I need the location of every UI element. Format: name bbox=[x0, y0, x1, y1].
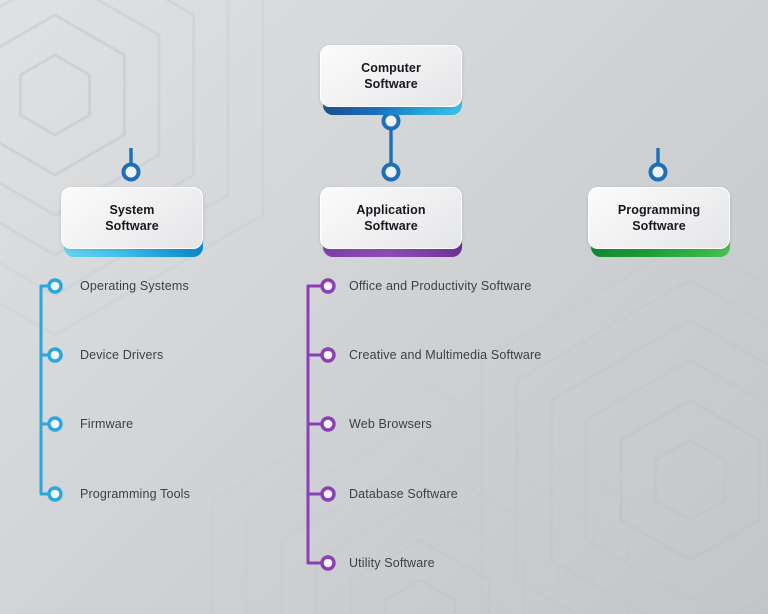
node-card: ProgrammingSoftware bbox=[588, 187, 730, 249]
node-label: ApplicationSoftware bbox=[356, 202, 425, 234]
node-system-software[interactable]: SystemSoftware bbox=[61, 187, 203, 249]
leaf-label-web-browsers[interactable]: Web Browsers bbox=[349, 417, 432, 431]
node-label-line1: Programming bbox=[618, 203, 700, 217]
system-software-leaf-dots bbox=[49, 280, 61, 500]
leaf-label-utility-software[interactable]: Utility Software bbox=[349, 556, 435, 570]
leaf-label-office-and-productivity-software[interactable]: Office and Productivity Software bbox=[349, 279, 531, 293]
node-label: ComputerSoftware bbox=[361, 60, 421, 92]
leaf-label-database-software[interactable]: Database Software bbox=[349, 487, 458, 501]
application-software-leaf-spine bbox=[308, 286, 328, 563]
system-software-leaf-spine bbox=[41, 286, 55, 494]
leaf-label-programming-tools[interactable]: Programming Tools bbox=[80, 487, 190, 501]
leaf-label-creative-and-multimedia-software[interactable]: Creative and Multimedia Software bbox=[349, 348, 541, 362]
node-computer-software[interactable]: ComputerSoftware bbox=[320, 45, 462, 107]
trunk-joint-circles bbox=[124, 114, 666, 180]
leaf-label-firmware[interactable]: Firmware bbox=[80, 417, 133, 431]
node-label-line1: Application bbox=[356, 203, 425, 217]
node-label-line2: Software bbox=[105, 219, 159, 233]
node-label-line2: Software bbox=[364, 77, 418, 91]
node-label: ProgrammingSoftware bbox=[618, 202, 700, 234]
node-application-software[interactable]: ApplicationSoftware bbox=[320, 187, 462, 249]
node-programming-software[interactable]: ProgrammingSoftware bbox=[588, 187, 730, 249]
node-card: ApplicationSoftware bbox=[320, 187, 462, 249]
node-card: SystemSoftware bbox=[61, 187, 203, 249]
node-label-line1: System bbox=[109, 203, 154, 217]
application-software-leaf-dots bbox=[322, 280, 334, 569]
node-label-line2: Software bbox=[632, 219, 686, 233]
node-label: SystemSoftware bbox=[105, 202, 159, 234]
node-card: ComputerSoftware bbox=[320, 45, 462, 107]
leaf-label-operating-systems[interactable]: Operating Systems bbox=[80, 279, 189, 293]
node-label-line1: Computer bbox=[361, 61, 421, 75]
leaf-label-device-drivers[interactable]: Device Drivers bbox=[80, 348, 163, 362]
node-label-line2: Software bbox=[364, 219, 418, 233]
diagram-canvas: ComputerSoftware SystemSoftware Applicat… bbox=[0, 0, 768, 614]
